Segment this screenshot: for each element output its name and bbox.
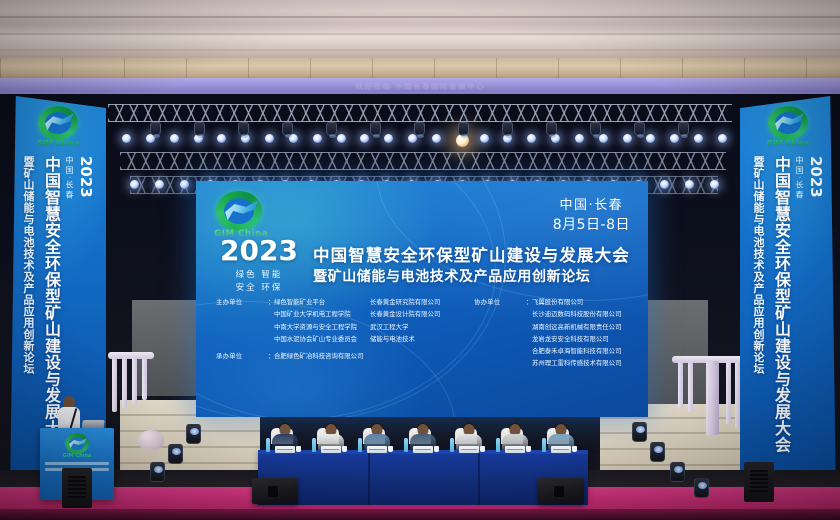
- lighting-truss-upper: [108, 104, 732, 122]
- coorg-0: 飞翼股份有限公司: [532, 296, 583, 308]
- podium-logo-text: GIM China: [60, 453, 94, 459]
- panelist-nameplate: [275, 446, 295, 453]
- cornice-seam: [62, 58, 63, 80]
- stage-monitor-right: [538, 478, 584, 504]
- stage-lamp: [337, 134, 346, 143]
- cornice-seam: [372, 58, 373, 80]
- panelist-nameplate: [321, 446, 341, 453]
- tea-cup: [388, 446, 393, 452]
- moving-head-fixture: [150, 122, 161, 136]
- tea-cup: [434, 446, 439, 452]
- coorg-row-1: 长沙迪迈数码科技股份有限公司: [474, 308, 634, 320]
- moving-head-fixture: [502, 122, 513, 136]
- banner-right-logo: GIM China: [760, 106, 816, 152]
- host-row-0: 主办单位 ： 绿色智能矿业平台 长春黄金研究院有限公司: [216, 296, 464, 308]
- moving-head-fixture: [414, 122, 425, 136]
- coorg-5: 苏州理工雷科传感技术有限公司: [532, 357, 621, 369]
- host-column: 主办单位 ： 绿色智能矿业平台 长春黄金研究院有限公司 中国矿业大学机电工程学院…: [216, 296, 464, 370]
- stage-lamp: [623, 134, 632, 143]
- slogan-line-1: 绿色 智能: [216, 269, 302, 282]
- moving-head-fixture: [458, 122, 469, 136]
- stage-lamp: [122, 134, 131, 143]
- banner-left-logo-text: GIM China: [30, 139, 86, 148]
- conference-stage-photo: 欢迎莅临 中国长春国际会展中心: [0, 0, 840, 520]
- banner-right-year: 2023: [807, 156, 825, 486]
- panelist-nameplate: [505, 446, 525, 453]
- moving-light-fixture: [632, 422, 647, 442]
- water-bottle: [266, 438, 270, 452]
- coorg-4: 合肥泰禾卓海智能科技有限公司: [532, 345, 621, 357]
- host-right-2: 武汉工程大学: [370, 321, 464, 333]
- screen-event-meta: 中国·长春 8月5日-8日: [553, 196, 630, 235]
- water-bottle: [312, 438, 316, 452]
- host-left-3: 中国水泥协会矿山专业委员会: [274, 333, 370, 345]
- cornice-seam: [620, 58, 621, 80]
- coorg-3: 龙岩龙安安全科技有限公司: [532, 333, 609, 345]
- slogan-line-2: 安全 环保: [216, 282, 302, 295]
- event-date: 8月5日-8日: [553, 216, 630, 236]
- ceiling-cornice: [0, 58, 840, 80]
- coorg-row-0: 协办单位 ： 飞翼股份有限公司: [474, 296, 634, 308]
- panelist-nameplate: [459, 446, 479, 453]
- coorg-1: 长沙迪迈数码科技股份有限公司: [532, 308, 621, 320]
- banner-right-city: 中国·长春: [794, 156, 805, 486]
- event-slogan: 绿色 智能 安全 环保: [216, 269, 302, 295]
- host-right-1: 长春黄金设计院有限公司: [370, 308, 464, 320]
- organizer-row: 承办单位 ： 合肥绿色矿冶科技咨询有限公司: [216, 350, 464, 362]
- host-left-0: 绿色智能矿业平台: [274, 296, 370, 308]
- pa-speaker-left: [62, 468, 92, 508]
- host-right-3: 储能与电池技术: [370, 333, 464, 345]
- moving-head-fixture: [282, 122, 293, 136]
- cornice-seam: [186, 58, 187, 80]
- moving-head-fixture: [194, 122, 205, 136]
- cornice-seam: [434, 58, 435, 80]
- banner-right-logo-text: GIM China: [760, 139, 816, 148]
- moving-light-fixture: [186, 424, 201, 444]
- coorg-row-4: 合肥泰禾卓海智能科技有限公司: [474, 345, 634, 357]
- banner-right-text-columns: 2023 中国·长春 中国智慧安全环保型矿山建设与发展大会 暨矿山储能与电池技术…: [740, 156, 836, 486]
- cornice-seam: [0, 58, 1, 80]
- host-right-0: 长春黄金研究院有限公司: [370, 296, 464, 308]
- moving-head-fixture: [678, 122, 689, 136]
- moving-head-fixture: [590, 122, 601, 136]
- moving-light-fixture: [150, 462, 165, 482]
- water-bottle: [496, 438, 500, 452]
- panelist-nameplate: [367, 446, 387, 453]
- cornice-seam: [558, 58, 559, 80]
- water-bottle: [404, 438, 408, 452]
- host-row-3: 中国水泥协会矿山专业委员会 储能与电池技术: [216, 333, 464, 345]
- event-city: 中国·长春: [553, 196, 630, 216]
- coorganizer-column: 协办单位 ： 飞翼股份有限公司 长沙迪迈数码科技股份有限公司 湖南创远高新机械有…: [464, 296, 634, 370]
- coorg-label: 协办单位: [474, 296, 526, 308]
- stage-lamp: [432, 134, 441, 143]
- led-strip-text: 欢迎莅临 中国长春国际会展中心: [0, 82, 840, 91]
- banner-right-subtitle: 暨矿山储能与电池技术及产品应用创新论坛: [750, 156, 766, 486]
- venue-ceiling: [0, 0, 840, 60]
- organizer-label: 承办单位: [216, 350, 268, 362]
- stage-front-edge: [0, 509, 840, 520]
- water-bottle: [542, 438, 546, 452]
- podium-logo: GIM China: [60, 433, 94, 461]
- lighting-truss-middle: [120, 152, 726, 170]
- water-bottle: [450, 438, 454, 452]
- banner-left-logo: GIM China: [30, 106, 86, 152]
- stage-lamp: [599, 134, 608, 143]
- cornice-seam: [682, 58, 683, 80]
- moving-light-fixture: [168, 444, 183, 464]
- balustrade-left: [108, 352, 154, 442]
- pa-speaker-right: [744, 462, 774, 502]
- balustrade-right: [672, 356, 744, 452]
- stage-lamp: [480, 134, 489, 143]
- tea-cup: [342, 446, 347, 452]
- cornice-seam: [124, 58, 125, 80]
- cornice-seam: [744, 58, 745, 80]
- year-column: 2023 绿色 智能 安全 环保: [216, 237, 302, 295]
- coorg-row-3: 龙岩龙安安全科技有限公司: [474, 333, 634, 345]
- stage-lamp: [710, 180, 719, 189]
- stage-lamp: [718, 134, 727, 143]
- stage-lamp: [685, 180, 694, 189]
- stage-lamp: [130, 180, 139, 189]
- moving-head-fixture: [370, 122, 381, 136]
- tea-cup: [572, 446, 577, 452]
- banner-left-subtitle: 暨矿山储能与电池技术及产品应用创新论坛: [20, 156, 36, 486]
- coorg-2: 湖南创远高新机械有限责任公司: [532, 321, 621, 333]
- moving-head-fixture: [546, 122, 557, 136]
- moving-light-fixture: [650, 442, 665, 462]
- stage-lamp: [575, 134, 584, 143]
- cornice-seam: [310, 58, 311, 80]
- stage-lamp: [660, 180, 669, 189]
- floral-decoration: [138, 430, 164, 450]
- sponsor-block: 主办单位 ： 绿色智能矿业平台 长春黄金研究院有限公司 中国矿业大学机电工程学院…: [216, 296, 634, 370]
- tea-cup: [526, 446, 531, 452]
- stage-monitor-left: [252, 478, 298, 504]
- moving-light-fixture: [694, 478, 709, 498]
- vertical-banner-right: GIM China 2023 中国·长春 中国智慧安全环保型矿山建设与发展大会 …: [740, 96, 836, 500]
- host-left-2: 中南大学资源与安全工程学院: [274, 321, 370, 333]
- moving-head-fixture: [634, 122, 645, 136]
- conference-subtitle: 暨矿山储能与电池技术及产品应用创新论坛: [313, 269, 630, 287]
- event-year: 2023: [216, 237, 302, 265]
- stage-lamp: [313, 134, 322, 143]
- panelist-nameplate: [413, 446, 433, 453]
- banner-right-title: 中国智慧安全环保型矿山建设与发展大会: [769, 156, 793, 486]
- conference-title: 中国智慧安全环保型矿山建设与发展大会: [313, 246, 630, 267]
- coorg-row-2: 湖南创远高新机械有限责任公司: [474, 321, 634, 333]
- cornice-seam: [806, 58, 807, 80]
- host-row-2: 中南大学资源与安全工程学院 武汉工程大学: [216, 321, 464, 333]
- screen-title-block: 2023 绿色 智能 安全 环保 中国智慧安全环保型矿山建设与发展大会 暨矿山储…: [216, 237, 628, 295]
- cornice-seam: [248, 58, 249, 80]
- main-led-screen: GIM China 中国·长春 8月5日-8日 2023 绿色 智能 安全 环保…: [196, 181, 648, 417]
- tea-cup: [296, 446, 301, 452]
- coorg-row-5: 苏州理工雷科传感技术有限公司: [474, 357, 634, 369]
- title-column: 中国智慧安全环保型矿山建设与发展大会 暨矿山储能与电池技术及产品应用创新论坛: [313, 246, 630, 287]
- host-left-1: 中国矿业大学机电工程学院: [274, 308, 370, 320]
- organizer-value: 合肥绿色矿冶科技咨询有限公司: [274, 350, 363, 362]
- stage-lamp: [170, 134, 179, 143]
- panelist-nameplate: [551, 446, 571, 453]
- moving-head-fixture: [326, 122, 337, 136]
- cornice-seam: [496, 58, 497, 80]
- moving-head-fixture: [238, 122, 249, 136]
- tea-cup: [480, 446, 485, 452]
- water-bottle: [358, 438, 362, 452]
- host-label: 主办单位: [216, 296, 268, 308]
- moving-light-fixture: [670, 462, 685, 482]
- stage-lamp: [265, 134, 274, 143]
- host-row-1: 中国矿业大学机电工程学院 长春黄金设计院有限公司: [216, 308, 464, 320]
